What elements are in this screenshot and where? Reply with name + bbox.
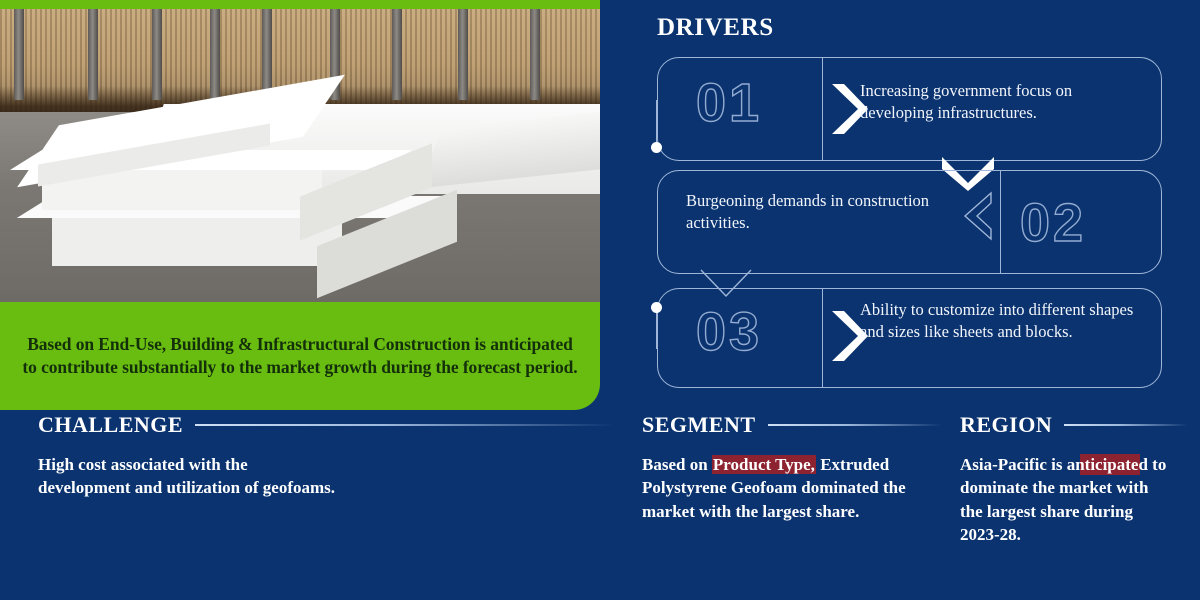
- challenge-text: High cost associated with the developmen…: [38, 453, 338, 500]
- green-callout-banner: Based on End-Use, Building & Infrastruct…: [0, 302, 600, 410]
- bottom-summary-row: CHALLENGE High cost associated with the …: [0, 412, 1200, 600]
- driver-divider-02: [1000, 170, 1001, 274]
- geofoam-photo: [0, 0, 600, 302]
- region-header: REGION: [960, 412, 1188, 438]
- photo-post: [210, 4, 220, 100]
- photo-post: [88, 4, 98, 100]
- segment-header: SEGMENT: [642, 412, 942, 438]
- driver-number-03: 03: [696, 301, 762, 363]
- driver-dot-01: [651, 142, 662, 153]
- region-text: Asia-Pacific is anticipated to dominate …: [960, 453, 1175, 547]
- driver-lead-line-01: [656, 100, 657, 148]
- summary-column-challenge: CHALLENGE High cost associated with the …: [38, 412, 618, 600]
- segment-rule: [768, 424, 942, 426]
- summary-column-region: REGION Asia-Pacific is anticipated to do…: [960, 412, 1188, 600]
- driver-text-01: Increasing government focus on developin…: [860, 80, 1145, 124]
- region-text-value: Asia-Pacific is anticipated to dominate …: [960, 455, 1166, 544]
- photo-post: [262, 4, 272, 100]
- infographic-root: Based on End-Use, Building & Infrastruct…: [0, 0, 1200, 600]
- summary-column-segment: SEGMENT Based on Product Type, Extruded …: [642, 412, 942, 600]
- challenge-title: CHALLENGE: [38, 412, 183, 438]
- driver-dot-03: [651, 302, 662, 313]
- segment-title: SEGMENT: [642, 412, 756, 438]
- driver-text-02: Burgeoning demands in construction activ…: [686, 190, 976, 234]
- photo-post: [458, 4, 468, 100]
- segment-text: Based on Product Type, Extruded Polystyr…: [642, 453, 922, 523]
- chevron-left-icon-02: [955, 190, 995, 242]
- drivers-title: DRIVERS: [657, 14, 774, 42]
- drivers-panel: DRIVERS 01 Increasing government focus o…: [600, 0, 1200, 412]
- green-banner-text: Based on End-Use, Building & Infrastruct…: [0, 333, 600, 380]
- photo-post: [530, 4, 540, 100]
- top-green-strip: [0, 0, 600, 9]
- driver-divider-03: [822, 288, 823, 388]
- segment-text-pre: Based on: [642, 455, 712, 474]
- left-image-panel: Based on End-Use, Building & Infrastruct…: [0, 0, 600, 418]
- region-rule: [1064, 424, 1188, 426]
- challenge-rule: [195, 424, 615, 426]
- driver-number-01: 01: [696, 72, 762, 134]
- photo-post: [392, 4, 402, 100]
- photo-post: [152, 4, 162, 100]
- driver-number-02: 02: [1020, 192, 1086, 254]
- photo-post: [14, 4, 24, 100]
- driver-lead-line-03: [656, 307, 657, 349]
- challenge-header: CHALLENGE: [38, 412, 618, 438]
- segment-highlight: Product Type,: [712, 455, 816, 474]
- region-title: REGION: [960, 412, 1052, 438]
- photo-foam-block-top: [30, 100, 330, 156]
- driver-text-03: Ability to customize into different shap…: [860, 299, 1150, 343]
- driver-divider-01: [822, 57, 823, 161]
